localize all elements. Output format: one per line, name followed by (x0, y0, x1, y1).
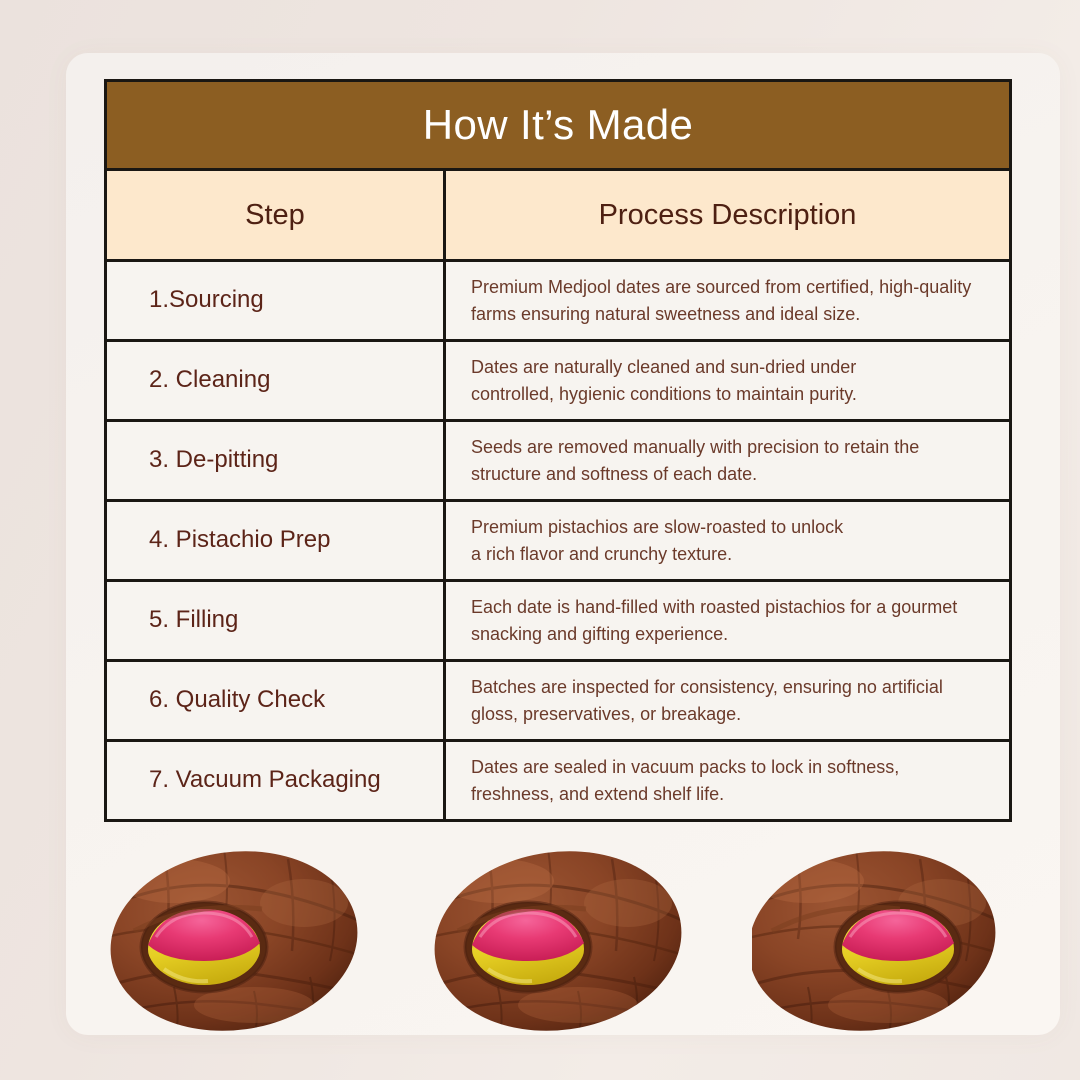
table-header-row: Step Process Description (107, 168, 1009, 259)
description-line: controlled, hygienic conditions to maint… (471, 381, 991, 407)
description-line: freshness, and extend shelf life. (471, 781, 991, 807)
cell-step: 7. Vacuum Packaging (107, 742, 446, 819)
description-line: Dates are sealed in vacuum packs to lock… (471, 754, 991, 780)
table-row: 4. Pistachio PrepPremium pistachios are … (107, 499, 1009, 579)
description-line: farms ensuring natural sweetness and ide… (471, 301, 991, 327)
description-line: structure and softness of each date. (471, 461, 991, 487)
description-line: Dates are naturally cleaned and sun-drie… (471, 354, 991, 380)
cell-process-description: Premium pistachios are slow-roasted to u… (446, 502, 1009, 579)
stuffed-date-photo-3 (752, 845, 1012, 1035)
cell-step: 1.Sourcing (107, 262, 446, 339)
poster-canvas: How It’s Made Step Process Description 1… (0, 0, 1080, 1080)
cell-process-description: Seeds are removed manually with precisio… (446, 422, 1009, 499)
cell-process-description: Batches are inspected for consistency, e… (446, 662, 1009, 739)
page-title: How It’s Made (423, 104, 694, 146)
description-line: Seeds are removed manually with precisio… (471, 434, 991, 460)
cell-process-description: Premium Medjool dates are sourced from c… (446, 262, 1009, 339)
cell-process-description: Each date is hand-filled with roasted pi… (446, 582, 1009, 659)
description-line: gloss, preservatives, or breakage. (471, 701, 991, 727)
column-header-step: Step (107, 171, 446, 259)
table-row: 7. Vacuum PackagingDates are sealed in v… (107, 739, 1009, 819)
table-body: 1.SourcingPremium Medjool dates are sour… (107, 259, 1009, 819)
table-row: 6. Quality CheckBatches are inspected fo… (107, 659, 1009, 739)
description-line: Each date is hand-filled with roasted pi… (471, 594, 991, 620)
cell-step: 5. Filling (107, 582, 446, 659)
stuffed-date-photo-1 (104, 845, 364, 1035)
cell-process-description: Dates are naturally cleaned and sun-drie… (446, 342, 1009, 419)
stuffed-date-photo-2 (428, 845, 688, 1035)
description-line: Premium Medjool dates are sourced from c… (471, 274, 991, 300)
cell-step: 2. Cleaning (107, 342, 446, 419)
table-row: 5. FillingEach date is hand-filled with … (107, 579, 1009, 659)
cell-step: 3. De-pitting (107, 422, 446, 499)
description-line: snacking and gifting experience. (471, 621, 991, 647)
how-its-made-table: How It’s Made Step Process Description 1… (104, 79, 1012, 822)
description-line: Batches are inspected for consistency, e… (471, 674, 991, 700)
cell-step: 6. Quality Check (107, 662, 446, 739)
cell-process-description: Dates are sealed in vacuum packs to lock… (446, 742, 1009, 819)
description-line: Premium pistachios are slow-roasted to u… (471, 514, 991, 540)
table-row: 1.SourcingPremium Medjool dates are sour… (107, 259, 1009, 339)
description-line: a rich flavor and crunchy texture. (471, 541, 991, 567)
table-row: 3. De-pittingSeeds are removed manually … (107, 419, 1009, 499)
column-header-process-description: Process Description (446, 171, 1009, 259)
table-row: 2. CleaningDates are naturally cleaned a… (107, 339, 1009, 419)
table-title-bar: How It’s Made (107, 82, 1009, 168)
stuffed-dates-gallery (104, 840, 1012, 1040)
cell-step: 4. Pistachio Prep (107, 502, 446, 579)
